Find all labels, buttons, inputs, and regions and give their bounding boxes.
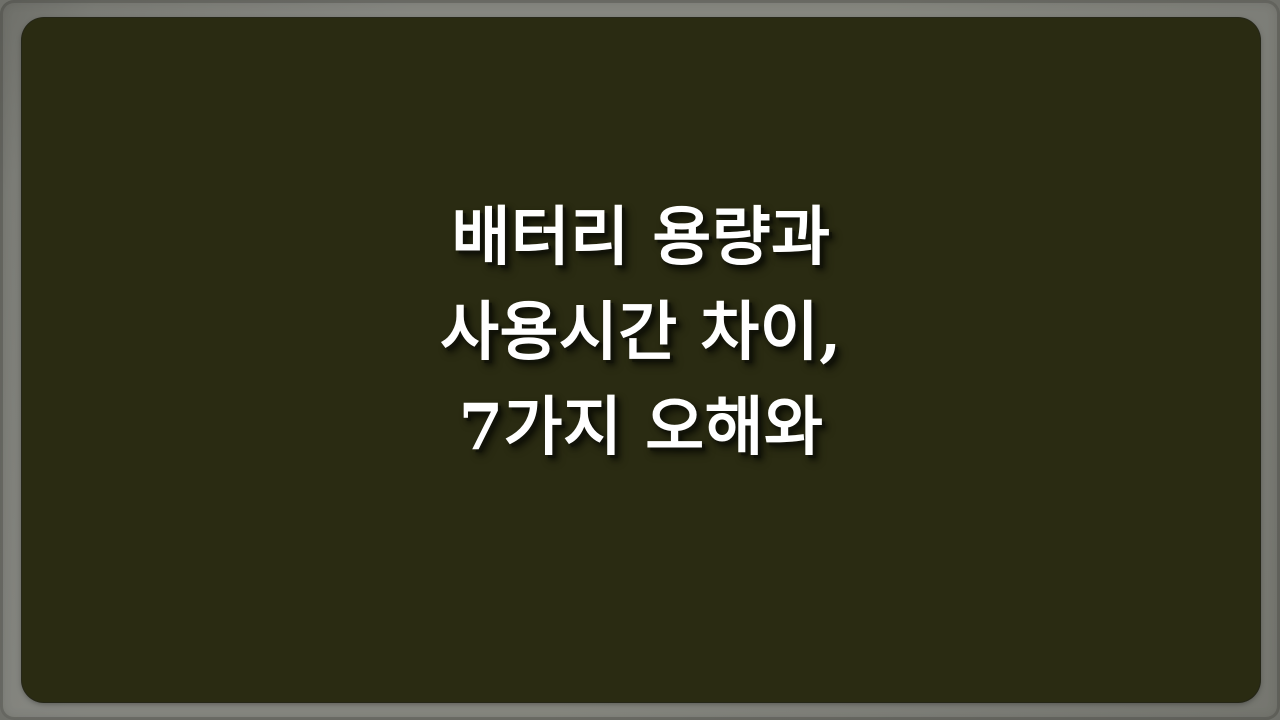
title-line-1: 배터리 용량과 — [22, 190, 1260, 285]
card-frame: 배터리 용량과 사용시간 차이, 7가지 오해와 — [0, 0, 1280, 720]
content-panel: 배터리 용량과 사용시간 차이, 7가지 오해와 — [22, 18, 1260, 702]
title-line-3: 7가지 오해와 — [22, 380, 1260, 475]
title-block: 배터리 용량과 사용시간 차이, 7가지 오해와 — [22, 190, 1260, 475]
title-line-2: 사용시간 차이, — [22, 285, 1260, 380]
